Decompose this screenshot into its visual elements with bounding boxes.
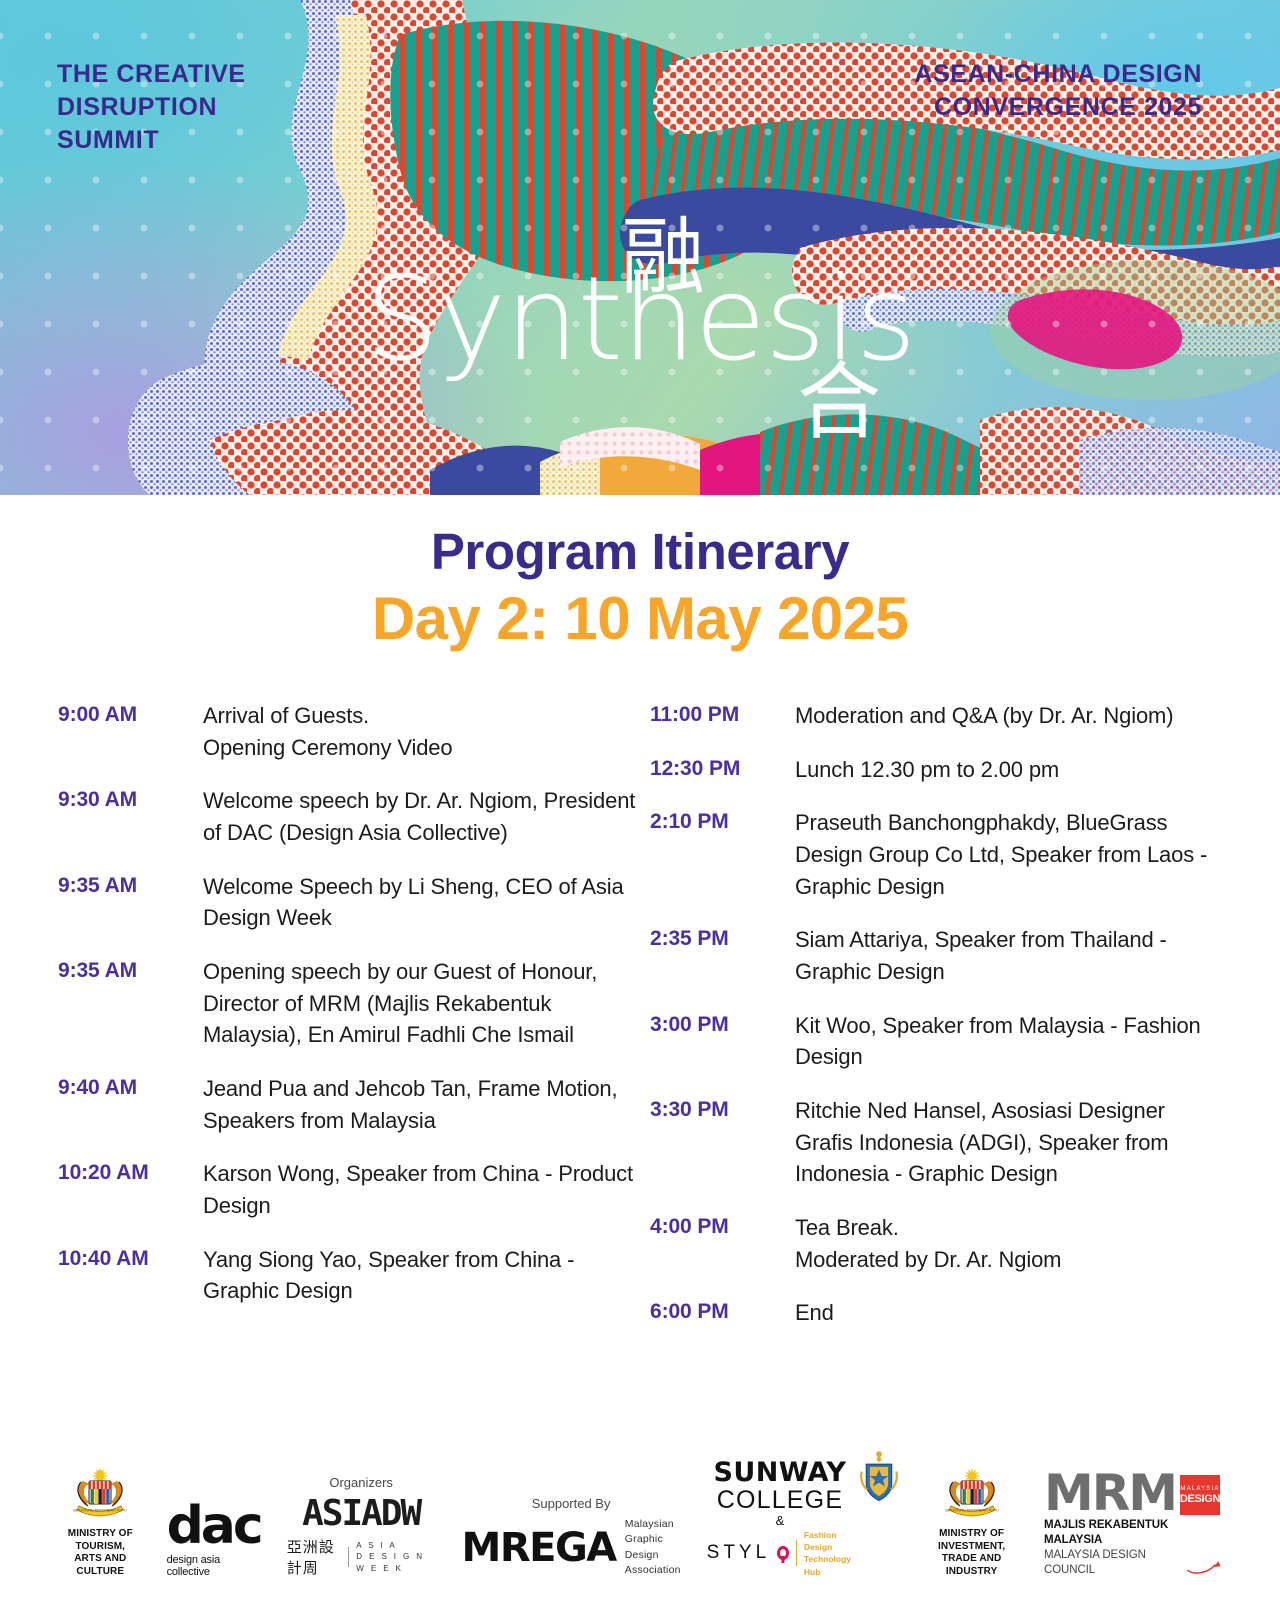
schedule-description: Arrival of Guests. Opening Ceremony Vide…	[203, 700, 636, 763]
schedule-description: Welcome Speech by Li Sheng, CEO of Asia …	[203, 871, 636, 934]
schedule-description: Kit Woo, Speaker from Malaysia - Fashion…	[795, 1010, 1228, 1073]
hero-right-title: ASEAN-CHINA DESIGN CONVERGENCE 2025	[914, 58, 1202, 124]
schedule-description: Lunch 12.30 pm to 2.00 pm	[795, 754, 1228, 786]
logo-caption-miti: MINISTRY OF INVESTMENT, TRADE AND INDUST…	[925, 1528, 1018, 1578]
mrega-fullname: Malaysian Graphic Design Association	[625, 1517, 681, 1578]
schedule-row: 4:00 PMTea Break. Moderated by Dr. Ar. N…	[650, 1212, 1228, 1275]
schedule-row: 11:00 PMModeration and Q&A (by Dr. Ar. N…	[650, 700, 1228, 732]
stylo-divider	[796, 1540, 797, 1566]
schedule-time: 9:40 AM	[58, 1073, 203, 1136]
stylo-circle-icon	[777, 1546, 789, 1560]
mrm-swoosh-icon	[1186, 1556, 1220, 1578]
logo-ministry-investment-trade-industry: BERSEKUTU BERTAMBAH MUTU MINISTRY OF INV…	[925, 1465, 1018, 1578]
schedule-time: 3:30 PM	[650, 1095, 795, 1190]
dac-wordmark: dac	[167, 1503, 261, 1551]
schedule-time: 4:00 PM	[650, 1212, 795, 1275]
schedule-row: 3:30 PMRitchie Ned Hansel, Asosiasi Desi…	[650, 1095, 1228, 1190]
schedule-grid: 9:00 AMArrival of Guests. Opening Ceremo…	[0, 700, 1280, 1329]
schedule-time: 3:00 PM	[650, 1010, 795, 1073]
schedule-time: 10:40 AM	[58, 1244, 203, 1307]
page-titles: Program Itinerary Day 2: 10 May 2025	[0, 495, 1280, 653]
synthesis-wordmark: Synthesis	[0, 262, 1280, 378]
adw-subtitle-row: 亞洲設計周 A S I A D E S I G N W E E K	[287, 1536, 436, 1578]
schedule-time: 10:20 AM	[58, 1158, 203, 1221]
schedule-time: 9:35 AM	[58, 956, 203, 1051]
logo-mrm: MRM MALAYSIA DESIGN MAJLIS REKABENTUK MA…	[1044, 1470, 1220, 1578]
schedule-row: 9:40 AMJeand Pua and Jehcob Tan, Frame M…	[58, 1073, 636, 1136]
schedule-row: 10:20 AMKarson Wong, Speaker from China …	[58, 1158, 636, 1221]
schedule-time: 9:35 AM	[58, 871, 203, 934]
schedule-description: Moderation and Q&A (by Dr. Ar. Ngiom)	[795, 700, 1228, 732]
schedule-row: 6:00 PMEnd	[650, 1297, 1228, 1329]
schedule-row: 10:40 AMYang Siong Yao, Speaker from Chi…	[58, 1244, 636, 1307]
schedule-row: 9:00 AMArrival of Guests. Opening Ceremo…	[58, 700, 636, 763]
schedule-row: 2:35 PMSiam Attariya, Speaker from Thail…	[650, 924, 1228, 987]
schedule-column-right: 11:00 PMModeration and Q&A (by Dr. Ar. N…	[650, 700, 1228, 1329]
svg-text:BERSEKUTU BERTAMBAH MUTU: BERSEKUTU BERTAMBAH MUTU	[74, 1508, 128, 1512]
page-title: Program Itinerary	[0, 523, 1280, 580]
schedule-description: Siam Attariya, Speaker from Thailand - G…	[795, 924, 1228, 987]
mrm-row: MRM MALAYSIA DESIGN	[1044, 1470, 1220, 1516]
sunway-wordmark: SUNWAY	[714, 1459, 847, 1486]
schedule-time: 9:30 AM	[58, 785, 203, 848]
schedule-row: 9:35 AMWelcome Speech by Li Sheng, CEO o…	[58, 871, 636, 934]
adw-english-name: A S I A D E S I G N W E E K	[356, 1540, 435, 1575]
logo-sunway-college-stylo: SUNWAY COLLEGE & STYL Fashion Design Tec…	[707, 1459, 900, 1578]
logo-dac: dac design asia collective	[167, 1503, 261, 1578]
page-subtitle-day: Day 2: 10 May 2025	[0, 584, 1280, 653]
schedule-description: Opening speech by our Guest of Honour, D…	[203, 956, 636, 1051]
malaysia-design-badge: MALAYSIA DESIGN	[1180, 1475, 1220, 1515]
schedule-time: 9:00 AM	[58, 700, 203, 763]
cjk-character-he: 合	[797, 360, 881, 444]
schedule-description: Jeand Pua and Jehcob Tan, Frame Motion, …	[203, 1073, 636, 1136]
schedule-description: Welcome speech by Dr. Ar. Ngiom, Preside…	[203, 785, 636, 848]
adw-divider	[348, 1547, 349, 1567]
logo-caption-motac: MINISTRY OF TOURISM, ARTS AND CULTURE	[60, 1528, 141, 1578]
schedule-description: Praseuth Banchongphakdy, BlueGrass Desig…	[795, 807, 1228, 902]
schedule-time: 12:30 PM	[650, 754, 795, 786]
malaysia-coat-of-arms-icon-2: BERSEKUTU BERTAMBAH MUTU	[941, 1465, 1003, 1523]
schedule-description: Tea Break. Moderated by Dr. Ar. Ngiom	[795, 1212, 1228, 1275]
schedule-row: 9:35 AMOpening speech by our Guest of Ho…	[58, 956, 636, 1051]
schedule-time: 2:35 PM	[650, 924, 795, 987]
schedule-description: Yang Siong Yao, Speaker from China - Gra…	[203, 1244, 636, 1307]
badge-design-text: DESIGN	[1180, 1494, 1220, 1505]
schedule-description: Ritchie Ned Hansel, Asosiasi Designer Gr…	[795, 1095, 1228, 1190]
schedule-row: 12:30 PMLunch 12.30 pm to 2.00 pm	[650, 754, 1228, 786]
schedule-description: End	[795, 1297, 1228, 1329]
stylo-row: STYL Fashion Design Technology Hub	[707, 1529, 854, 1578]
logo-asia-design-week: Organizers ASIADW 亞洲設計周 A S I A D E S I …	[287, 1475, 436, 1578]
svg-text:BERSEKUTU BERTAMBAH MUTU: BERSEKUTU BERTAMBAH MUTU	[945, 1508, 999, 1512]
stylo-tagline: Fashion Design Technology Hub	[804, 1529, 853, 1578]
sunway-crest-icon	[859, 1449, 899, 1508]
mrega-wordmark: MREGA	[462, 1528, 616, 1568]
stylo-wordmark: STYL	[707, 1542, 771, 1564]
adw-chinese-name: 亞洲設計周	[287, 1536, 340, 1578]
schedule-time: 11:00 PM	[650, 700, 795, 732]
organizers-caption: Organizers	[329, 1475, 393, 1490]
hero-banner: THE CREATIVE DISRUPTION SUMMIT ASEAN-CHI…	[0, 0, 1280, 495]
logo-ministry-tourism-arts-culture: BERSEKUTU BERTAMBAH MUTU MINISTRY OF TOU…	[60, 1465, 141, 1578]
logo-mrega: Supported By MREGA Malaysian Graphic Des…	[462, 1496, 681, 1578]
mrega-row: MREGA Malaysian Graphic Design Associati…	[462, 1517, 681, 1578]
footer-logos: BERSEKUTU BERTAMBAH MUTU MINISTRY OF TOU…	[0, 1425, 1280, 1600]
adw-wordmark: ASIADW	[302, 1496, 420, 1532]
ampersand: &	[776, 1514, 785, 1528]
college-wordmark: COLLEGE	[717, 1486, 844, 1515]
schedule-description: Karson Wong, Speaker from China - Produc…	[203, 1158, 636, 1221]
schedule-time: 2:10 PM	[650, 807, 795, 902]
schedule-row: 2:10 PMPraseuth Banchongphakdy, BlueGras…	[650, 807, 1228, 902]
mrm-wordmark: MRM	[1044, 1470, 1176, 1516]
mrm-name-english: MALAYSIA DESIGN COUNCIL	[1044, 1548, 1180, 1578]
schedule-time: 6:00 PM	[650, 1297, 795, 1329]
hero-left-title: THE CREATIVE DISRUPTION SUMMIT	[57, 58, 246, 157]
schedule-row: 9:30 AMWelcome speech by Dr. Ar. Ngiom, …	[58, 785, 636, 848]
dac-tagline: design asia collective	[167, 1554, 261, 1578]
supported-by-caption: Supported By	[532, 1496, 611, 1511]
schedule-column-left: 9:00 AMArrival of Guests. Opening Ceremo…	[58, 700, 636, 1329]
mrm-name-malay: MAJLIS REKABENTUK MALAYSIA	[1044, 1518, 1180, 1548]
malaysia-coat-of-arms-icon: BERSEKUTU BERTAMBAH MUTU	[69, 1465, 131, 1523]
schedule-row: 3:00 PMKit Woo, Speaker from Malaysia - …	[650, 1010, 1228, 1073]
